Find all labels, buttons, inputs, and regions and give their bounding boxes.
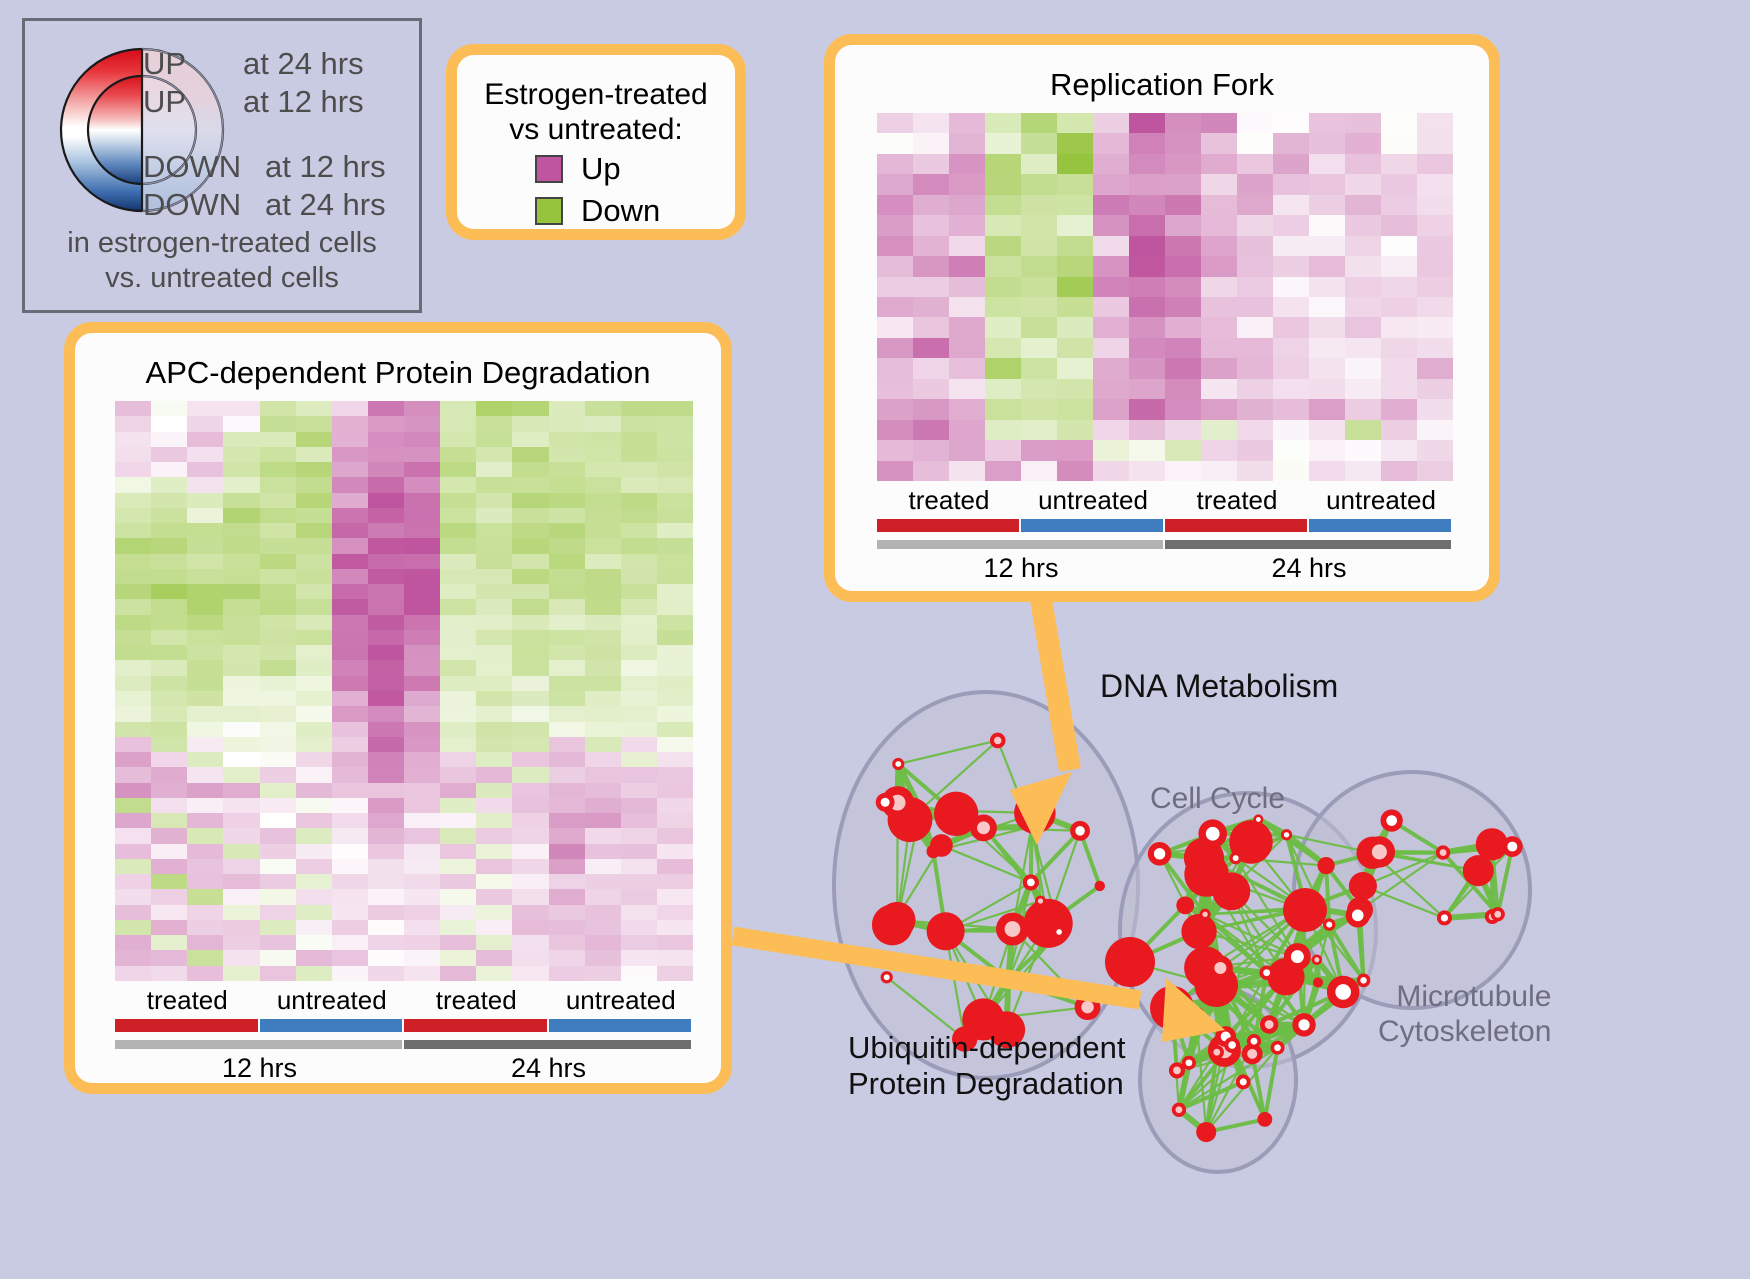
network-node[interactable]	[1436, 845, 1450, 859]
heatmap-cell	[368, 706, 404, 721]
heatmap-cell	[1093, 317, 1129, 337]
heatmap-cell	[1129, 215, 1165, 235]
network-node[interactable]	[1323, 918, 1335, 930]
up-down-legend-title-line1: Estrogen-treated	[457, 77, 735, 112]
network-node[interactable]	[1257, 1112, 1272, 1127]
heatmap-cell	[296, 569, 332, 584]
network-node[interactable]	[1259, 965, 1273, 979]
heatmap-cell	[621, 737, 657, 752]
heatmap-cell	[296, 889, 332, 904]
heatmap-cell	[296, 676, 332, 691]
heatmap-cell	[913, 399, 949, 419]
heatmap-cell	[440, 523, 476, 538]
heatmap-cell	[223, 523, 259, 538]
heatmap-cell	[332, 462, 368, 477]
heatmap-cell	[115, 599, 151, 614]
heatmap-cell	[476, 813, 512, 828]
heatmap-cell	[115, 722, 151, 737]
heatmap-cell	[187, 477, 223, 492]
heatmap-cell	[368, 645, 404, 660]
heatmap-cell	[621, 462, 657, 477]
network-node[interactable]	[1271, 1041, 1285, 1055]
heatmap-cell	[621, 630, 657, 645]
network-node[interactable]	[1023, 874, 1039, 890]
heatmap-cell	[187, 599, 223, 614]
network-node[interactable]	[1148, 842, 1172, 866]
heatmap-cell	[296, 508, 332, 523]
heatmap-cell	[187, 691, 223, 706]
heatmap-cell	[621, 416, 657, 431]
network-node[interactable]	[914, 803, 927, 816]
heatmap-cell	[296, 584, 332, 599]
axis-time-label: 24 hrs	[1165, 553, 1453, 584]
heatmap-cell	[332, 706, 368, 721]
heatmap-cell	[115, 538, 151, 553]
network-node[interactable]	[1224, 1037, 1240, 1053]
heatmap-cell	[115, 905, 151, 920]
heatmap-cell	[1345, 420, 1381, 440]
heatmap-cell	[1381, 174, 1417, 194]
heatmap-cell	[187, 630, 223, 645]
heatmap-cell	[260, 645, 296, 660]
heatmap-cell	[1057, 297, 1093, 317]
heatmap-cell	[440, 783, 476, 798]
heatmap-cell	[657, 798, 693, 813]
heatmap-cell	[585, 554, 621, 569]
heatmap-cell	[1345, 338, 1381, 358]
heatmap-cell	[151, 584, 187, 599]
heatmap-cell	[115, 584, 151, 599]
heatmap-cell	[476, 798, 512, 813]
heatmap-cell	[404, 844, 440, 859]
up-down-legend-title: Estrogen-treated vs untreated:	[457, 77, 735, 148]
heatmap-cell	[332, 432, 368, 447]
heatmap-cell	[151, 889, 187, 904]
heatmap-cell	[115, 691, 151, 706]
network-node[interactable]	[876, 793, 895, 812]
heatmap-cell	[985, 113, 1021, 133]
heatmap-cell	[585, 706, 621, 721]
heatmap-cell	[877, 358, 913, 378]
heatmap-cell	[115, 813, 151, 828]
network-node[interactable]	[1220, 983, 1230, 993]
heatmap-cell	[332, 889, 368, 904]
heatmap-cell	[1093, 277, 1129, 297]
heatmap-cell	[512, 752, 548, 767]
heatmap-cell	[512, 401, 548, 416]
heatmap-cell	[1201, 133, 1237, 153]
heatmap-cell	[657, 966, 693, 981]
network-node[interactable]	[1182, 1056, 1196, 1070]
heatmap-cell	[549, 569, 585, 584]
heatmap-cell	[657, 935, 693, 950]
network-node[interactable]	[1210, 1045, 1224, 1059]
heatmap-cell	[404, 477, 440, 492]
heatmap-cell	[512, 966, 548, 981]
heatmap-cell	[404, 889, 440, 904]
heatmap-cell	[404, 798, 440, 813]
heatmap-cell	[1345, 256, 1381, 276]
heatmap-cell	[512, 722, 548, 737]
heatmap-cell	[985, 154, 1021, 174]
heatmap-cell	[621, 706, 657, 721]
heatmap-cell	[476, 615, 512, 630]
heatmap-cell	[187, 752, 223, 767]
heatmap-cell	[223, 966, 259, 981]
heatmap-cell	[296, 798, 332, 813]
heatmap-cell	[332, 783, 368, 798]
heatmap-cell	[1093, 195, 1129, 215]
heatmap-cell	[585, 691, 621, 706]
heatmap-cell	[1417, 297, 1453, 317]
network-graph	[800, 610, 1750, 1279]
heatmap-cell	[1273, 133, 1309, 153]
network-node[interactable]	[881, 971, 893, 983]
heatmap-cell	[296, 554, 332, 569]
network-node[interactable]	[1236, 1075, 1251, 1090]
heatmap-cell	[368, 722, 404, 737]
heatmap-cell	[1381, 440, 1417, 460]
heatmap-cell	[223, 477, 259, 492]
heatmap-cell	[657, 645, 693, 660]
heatmap-cell	[260, 523, 296, 538]
network-node[interactable]	[1260, 1015, 1278, 1033]
heatmap-cell	[368, 584, 404, 599]
network-node[interactable]	[1349, 872, 1377, 900]
network-node[interactable]	[1150, 986, 1194, 1030]
network-node[interactable]	[1172, 1103, 1186, 1117]
heatmap-cell	[949, 379, 985, 399]
heatmap-cell	[332, 493, 368, 508]
heatmap-cell	[115, 462, 151, 477]
heatmap-cell	[368, 676, 404, 691]
heatmap-cell	[223, 584, 259, 599]
cluster-label-microtubule-line1: Microtubule	[1378, 980, 1551, 1015]
network-node[interactable]	[1317, 857, 1334, 874]
heatmap-cell	[260, 828, 296, 843]
heatmap-cell	[657, 813, 693, 828]
heatmap-cell	[621, 752, 657, 767]
network-node[interactable]	[1196, 1122, 1216, 1142]
heatmap-cell	[440, 889, 476, 904]
heatmap-cell	[1129, 154, 1165, 174]
heatmap-cell	[512, 798, 548, 813]
network-node[interactable]	[1212, 872, 1250, 910]
heatmap-cell	[585, 645, 621, 660]
heatmap-cell	[657, 752, 693, 767]
heatmap-cell	[1093, 420, 1129, 440]
network-node[interactable]	[1188, 1007, 1205, 1024]
heatmap-cell	[368, 889, 404, 904]
heatmap-cell	[1381, 297, 1417, 317]
heatmap-cell	[223, 889, 259, 904]
heatmap-cell	[440, 554, 476, 569]
ring-row-0-state: UP	[143, 46, 186, 82]
network-node[interactable]	[1284, 943, 1311, 970]
heatmap-cell	[151, 828, 187, 843]
heatmap-cell	[115, 706, 151, 721]
heatmap-cell	[657, 401, 693, 416]
heatmap-cell	[1165, 420, 1201, 440]
network-node[interactable]	[1003, 975, 1013, 985]
heatmap-cell	[404, 828, 440, 843]
heatmap-cell	[476, 905, 512, 920]
network-node[interactable]	[1346, 903, 1370, 927]
heatmap-cell	[985, 215, 1021, 235]
heatmap-cell	[151, 813, 187, 828]
heatmap-cell	[1129, 133, 1165, 153]
heatmap-cell	[260, 508, 296, 523]
network-node[interactable]	[1095, 881, 1105, 891]
heatmap-cell	[877, 154, 913, 174]
heatmap-cell	[1021, 420, 1057, 440]
heatmap-cell	[1237, 277, 1273, 297]
network-node[interactable]	[1247, 1034, 1261, 1048]
heatmap-cell	[913, 113, 949, 133]
heatmap-cell	[585, 401, 621, 416]
heatmap-cell	[621, 889, 657, 904]
heatmap-cell	[949, 317, 985, 337]
heatmap-cell	[151, 767, 187, 782]
heatmap-cell	[1273, 461, 1309, 481]
heatmap-cell	[332, 584, 368, 599]
heatmap-cell	[187, 905, 223, 920]
network-node[interactable]	[990, 733, 1006, 749]
network-node[interactable]	[1198, 819, 1227, 848]
heatmap-cell	[332, 538, 368, 553]
heatmap-cell	[512, 950, 548, 965]
heatmap-cell	[1345, 461, 1381, 481]
heatmap-cell	[332, 660, 368, 675]
heatmap-cell	[1165, 256, 1201, 276]
heatmap-cell	[1237, 399, 1273, 419]
heatmap-cell	[296, 767, 332, 782]
axis-time-label: 12 hrs	[877, 553, 1165, 584]
network-node[interactable]	[1437, 910, 1452, 925]
heatmap-cell	[512, 645, 548, 660]
axis-apc-degradation: treateduntreatedtreateduntreated12 hrs24…	[115, 985, 693, 1083]
heatmap-cell	[949, 420, 985, 440]
heatmap-cell	[1165, 277, 1201, 297]
network-node[interactable]	[1364, 836, 1395, 867]
heatmap-cell	[1417, 277, 1453, 297]
heatmap-cell	[223, 783, 259, 798]
heatmap-cell	[621, 798, 657, 813]
heatmap-cell	[296, 523, 332, 538]
axis-group-bar	[549, 1019, 692, 1032]
axis-group-bar	[115, 1019, 258, 1032]
heatmap-cell	[368, 523, 404, 538]
heatmap-cell	[1309, 297, 1345, 317]
network-node[interactable]	[879, 902, 916, 939]
heatmap-cell	[151, 752, 187, 767]
heatmap-cell	[440, 722, 476, 737]
axis-replication-fork: treateduntreatedtreateduntreated12 hrs24…	[877, 485, 1453, 583]
heatmap-cell	[1165, 154, 1201, 174]
heatmap-cell	[1345, 379, 1381, 399]
heatmap-cell	[260, 691, 296, 706]
network-node[interactable]	[1281, 829, 1292, 840]
heatmap-cell	[260, 630, 296, 645]
heatmap-cell	[404, 722, 440, 737]
heatmap-cell	[187, 874, 223, 889]
heatmap-cell	[621, 722, 657, 737]
heatmap-cell	[260, 752, 296, 767]
network-node[interactable]	[1357, 974, 1371, 988]
heatmap-cell	[404, 462, 440, 477]
ring-row-2-state: DOWN	[143, 149, 241, 185]
heatmap-cell	[1309, 195, 1345, 215]
heatmap-cell	[151, 615, 187, 630]
heatmap-cell	[296, 432, 332, 447]
heatmap-cell	[1237, 215, 1273, 235]
network-node[interactable]	[1327, 976, 1360, 1009]
network-node[interactable]	[1176, 896, 1194, 914]
heatmap-cell	[296, 706, 332, 721]
heatmap-cell	[151, 401, 187, 416]
heatmap-cell	[949, 215, 985, 235]
heatmap-cell	[476, 859, 512, 874]
heatmap-cell	[657, 615, 693, 630]
network-node[interactable]	[1053, 926, 1065, 938]
heatmap-cell	[1309, 440, 1345, 460]
heatmap-replication-fork	[877, 113, 1453, 481]
heatmap-cell	[549, 889, 585, 904]
heatmap-cell	[1093, 256, 1129, 276]
heatmap-cell	[223, 401, 259, 416]
heatmap-cell	[1201, 440, 1237, 460]
heatmap-cell	[1237, 317, 1273, 337]
heatmap-cell	[187, 554, 223, 569]
heatmap-cell	[1129, 317, 1165, 337]
heatmap-cell	[1057, 215, 1093, 235]
network-node[interactable]	[1502, 836, 1523, 857]
heatmap-cell	[1093, 461, 1129, 481]
network-node[interactable]	[1296, 897, 1316, 917]
heatmap-cell	[877, 174, 913, 194]
heatmap-cell	[404, 660, 440, 675]
heatmap-cell	[1093, 174, 1129, 194]
network-node[interactable]	[1312, 955, 1322, 965]
heatmap-cell	[549, 523, 585, 538]
heatmap-cell	[1201, 154, 1237, 174]
heatmap-cell	[260, 447, 296, 462]
heatmap-cell	[296, 645, 332, 660]
heatmap-cell	[223, 630, 259, 645]
heatmap-cell	[476, 676, 512, 691]
heatmap-cell	[332, 691, 368, 706]
network-node[interactable]	[1075, 994, 1101, 1020]
ring-legend-footer-line2: vs. untreated cells	[25, 261, 419, 296]
heatmap-cell	[332, 630, 368, 645]
network-node[interactable]	[926, 845, 940, 859]
network-node[interactable]	[1292, 1013, 1315, 1036]
heatmap-cell	[223, 950, 259, 965]
network-node[interactable]	[1229, 852, 1241, 864]
heatmap-cell	[549, 630, 585, 645]
heatmap-cell	[1093, 358, 1129, 378]
network-node[interactable]	[1491, 907, 1505, 921]
network-node[interactable]	[1380, 809, 1402, 831]
network-node[interactable]	[1070, 821, 1090, 841]
heatmap-cell	[476, 691, 512, 706]
network-node[interactable]	[1463, 855, 1494, 886]
heatmap-cell	[115, 401, 151, 416]
heatmap-cell	[512, 920, 548, 935]
heatmap-cell	[223, 416, 259, 431]
network-node[interactable]	[970, 814, 997, 841]
heatmap-cell	[1165, 317, 1201, 337]
heatmap-cell	[476, 920, 512, 935]
heatmap-cell	[1309, 399, 1345, 419]
network-node[interactable]	[1024, 899, 1073, 948]
heatmap-cell	[585, 584, 621, 599]
heatmap-cell	[296, 416, 332, 431]
network-node[interactable]	[1035, 896, 1046, 907]
heatmap-cell	[621, 691, 657, 706]
heatmap-cell	[1165, 358, 1201, 378]
heatmap-cell	[621, 676, 657, 691]
heatmap-cell	[1021, 154, 1057, 174]
heatmap-cell	[949, 461, 985, 481]
heatmap-cell	[115, 477, 151, 492]
network-node[interactable]	[1026, 821, 1038, 833]
heatmap-cell	[332, 477, 368, 492]
heatmap-cell	[1381, 461, 1417, 481]
legend-item-up: Up	[535, 153, 621, 184]
heatmap-cell	[585, 798, 621, 813]
ring-row-3-state: DOWN	[143, 187, 241, 223]
heatmap-cell	[187, 813, 223, 828]
heatmap-cell	[368, 493, 404, 508]
heatmap-cell	[1273, 358, 1309, 378]
heatmap-cell	[223, 798, 259, 813]
heatmap-cell	[368, 538, 404, 553]
heatmap-cell	[1021, 174, 1057, 194]
heatmap-cell	[1093, 215, 1129, 235]
network-node[interactable]	[1199, 909, 1210, 920]
heatmap-cell	[1381, 154, 1417, 174]
heatmap-cell	[949, 338, 985, 358]
axis-time-bar	[877, 540, 1163, 549]
network-node[interactable]	[1105, 937, 1155, 987]
heatmap-cell	[404, 691, 440, 706]
heatmap-cell	[1345, 297, 1381, 317]
network-node[interactable]	[1181, 914, 1216, 949]
heatmap-cell	[368, 905, 404, 920]
heatmap-cell	[404, 645, 440, 660]
ring-row-1-state: UP	[143, 84, 186, 120]
heatmap-cell	[949, 154, 985, 174]
network-node[interactable]	[927, 912, 965, 950]
heatmap-cell	[115, 844, 151, 859]
heatmap-cell	[621, 477, 657, 492]
network-node[interactable]	[1208, 956, 1233, 981]
heatmap-cell	[657, 737, 693, 752]
heatmap-cell	[549, 493, 585, 508]
heatmap-cell	[549, 767, 585, 782]
heatmap-cell	[260, 859, 296, 874]
heatmap-cell	[1345, 236, 1381, 256]
network-node[interactable]	[892, 758, 904, 770]
heatmap-cell	[1057, 277, 1093, 297]
network-node[interactable]	[996, 913, 1029, 946]
network-node[interactable]	[1313, 977, 1323, 987]
heatmap-cell	[151, 874, 187, 889]
heatmap-cell	[187, 950, 223, 965]
heatmap-cell	[440, 676, 476, 691]
heatmap-cell	[332, 844, 368, 859]
